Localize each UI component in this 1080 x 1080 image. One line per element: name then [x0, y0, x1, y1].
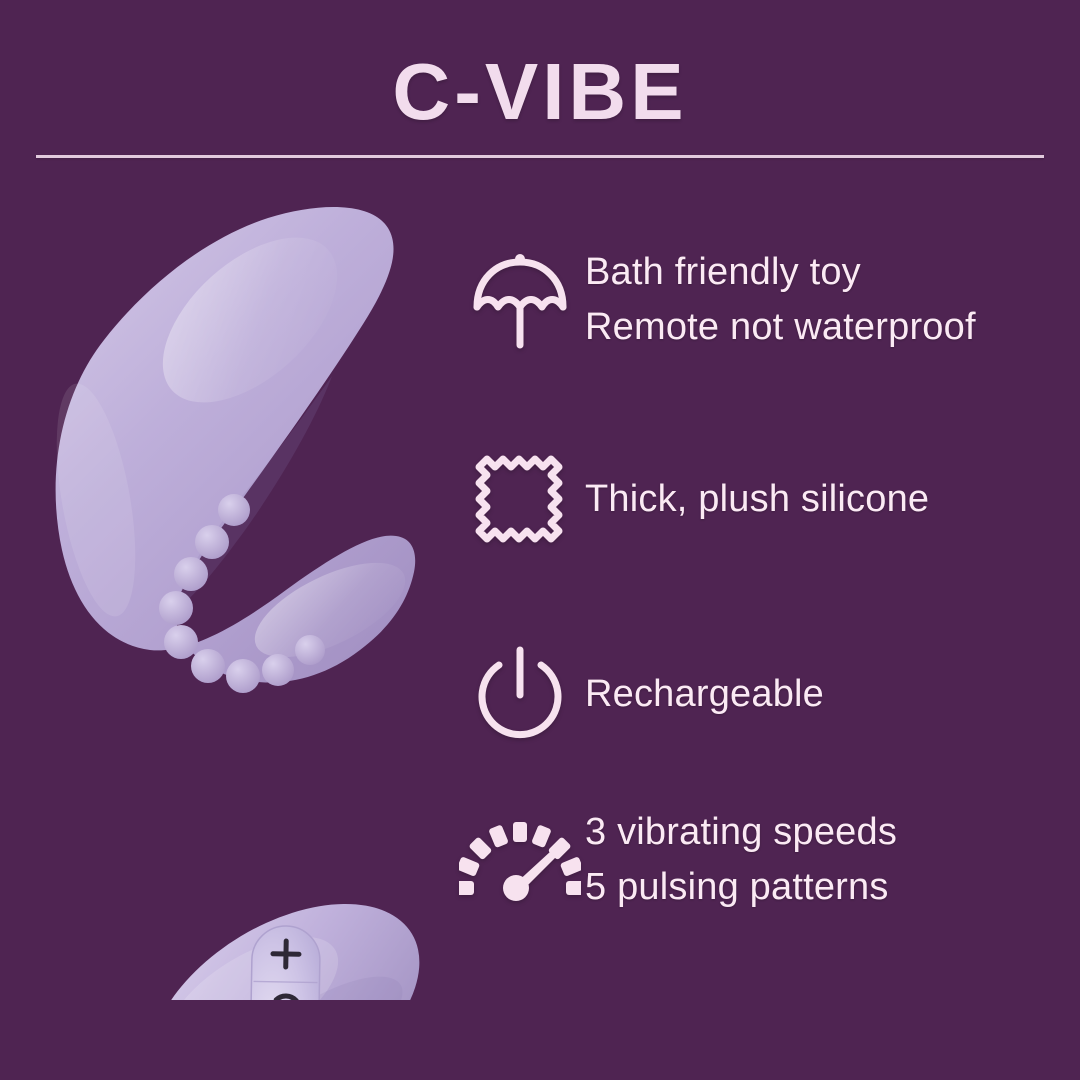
header-divider [36, 155, 1044, 158]
power-icon [455, 635, 585, 755]
feature-label-silicone: Thick, plush silicone [585, 472, 1065, 527]
feature-label-speeds: 3 vibrating speeds 5 pulsing patterns [585, 805, 1065, 915]
feature-label-rechargeable: Rechargeable [585, 667, 1065, 722]
feature-line-1: Rechargeable [585, 673, 824, 715]
c-shaped-vibrator [42, 207, 419, 693]
product-infographic: C-VIBE [0, 0, 1080, 1080]
feature-row-silicone: Thick, plush silicone [455, 440, 1065, 560]
feature-row-bath-friendly: Bath friendly toy Remote not waterproof [455, 240, 1065, 360]
product-illustration [0, 180, 470, 1000]
zigzag-square-icon [455, 440, 585, 560]
remote-control [112, 857, 458, 1000]
feature-row-rechargeable: Rechargeable [455, 635, 1065, 755]
feature-list: Bath friendly toy Remote not waterproof … [455, 240, 1065, 960]
feature-row-speeds: 3 vibrating speeds 5 pulsing patterns [455, 800, 1065, 920]
umbrella-icon [455, 240, 585, 360]
feature-line-1: Thick, plush silicone [585, 478, 929, 520]
feature-line-1: 3 vibrating speeds [585, 811, 897, 853]
speedometer-icon [455, 800, 585, 920]
page-title: C-VIBE [0, 52, 1080, 132]
feature-line-2: Remote not waterproof [585, 300, 1065, 355]
feature-label-bath-friendly: Bath friendly toy Remote not waterproof [585, 245, 1065, 355]
feature-line-2: 5 pulsing patterns [585, 860, 1065, 915]
feature-line-1: Bath friendly toy [585, 251, 861, 293]
product-photo-group [0, 180, 470, 1000]
